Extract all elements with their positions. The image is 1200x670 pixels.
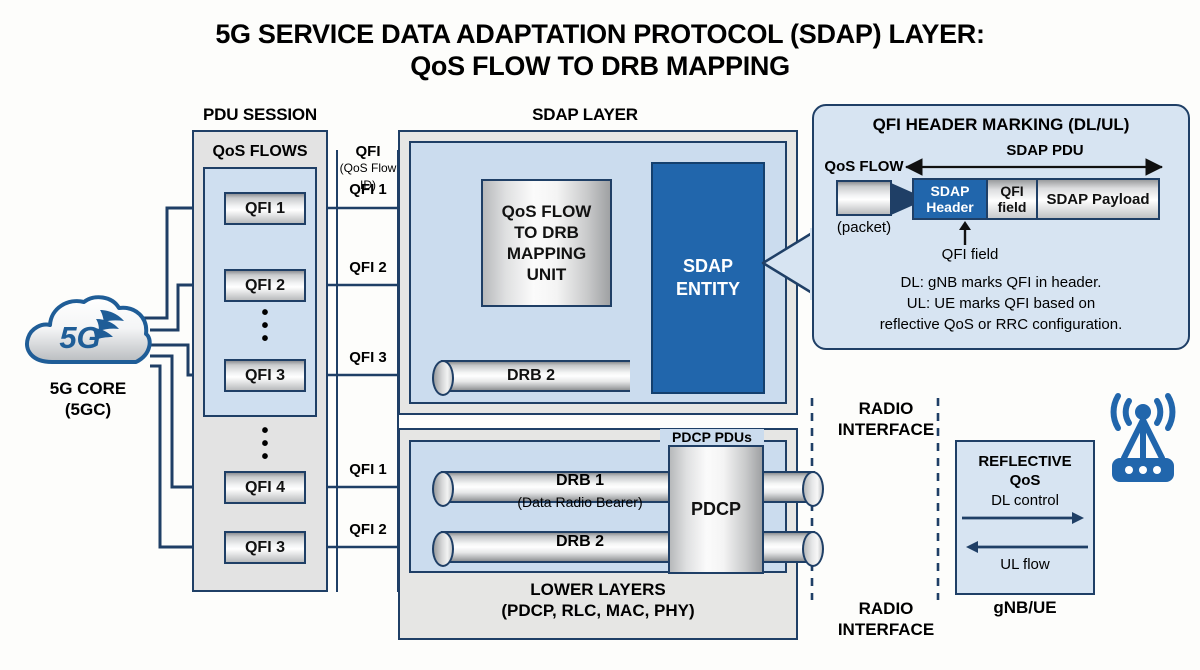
radio-interface-top-label: RADIO INTERFACE (828, 398, 944, 440)
sdap-pdu-structure: SDAP Header QFI field SDAP Payload (912, 178, 1160, 220)
packet-caption: (packet) (820, 219, 908, 236)
reflective-qos-title: REFLECTIVE QoS (955, 452, 1095, 490)
gnb-ue-label: gNB/UE (955, 598, 1095, 618)
qfi-heading-text: QFI (337, 143, 399, 160)
5g-core-cloud-icon: 5G (18, 288, 158, 378)
qos-flows-ellipsis: • • • (224, 307, 306, 346)
mapping-unit-line-2: TO DRB (502, 222, 592, 243)
sdap-pdu-span-arrow (900, 160, 1168, 174)
qos-flow-qfi-1[interactable]: QFI 1 (224, 192, 306, 225)
note-line-2: UL: UE marks QFI based on (818, 293, 1184, 314)
lower-layers-caption: LOWER LAYERS (PDCP, RLC, MAC, PHY) (398, 579, 798, 621)
cloud-badge-text: 5G (59, 320, 100, 355)
mapping-unit-line-3: MAPPING (502, 243, 592, 264)
drb1-cap-right (802, 471, 824, 507)
qfi-header-marking-notes: DL: gNB marks QFI in header. UL: UE mark… (818, 272, 1184, 335)
mapping-unit-line-4: UNIT (502, 264, 592, 285)
drb2-cap-right (802, 531, 824, 567)
radio-top-line-2: INTERFACE (828, 419, 944, 440)
note-line-1: DL: gNB marks QFI in header. (818, 272, 1184, 293)
sdap-drb2-label: DRB 2 (432, 360, 630, 392)
qos-flow-qfi-2[interactable]: QFI 2 (224, 269, 306, 302)
pdu-session-ellipsis: • • • (224, 425, 306, 464)
5g-core-label-line2: (5GC) (8, 399, 168, 420)
lower-layers-title-2: (PDCP, RLC, MAC, PHY) (398, 600, 798, 621)
radio-bottom-line-2: INTERFACE (828, 619, 944, 640)
ul-flow-arrow (962, 540, 1088, 554)
diagram-canvas: 5G SERVICE DATA ADAPTATION PROTOCOL (SDA… (0, 0, 1200, 670)
qfi-field-block[interactable]: QFI field (988, 180, 1038, 218)
qfi-field-line-2: field (998, 199, 1027, 215)
qfi-label-row-5: QFI 2 (337, 521, 399, 538)
note-line-3: reflective QoS or RRC configuration. (818, 314, 1184, 335)
dl-control-arrow (962, 511, 1088, 525)
pdcp-block[interactable]: PDCP (668, 445, 764, 574)
qfi-field-caption: QFI field (890, 246, 1050, 263)
mapping-unit-line-1: QoS FLOW (502, 201, 592, 222)
antenna-icon (1098, 390, 1188, 495)
qfi-label-row-4: QFI 1 (337, 461, 399, 478)
qos-flow-packet[interactable] (836, 180, 892, 216)
sdap-header-line-2: Header (926, 199, 973, 215)
ellipsis2-dot-3: • (224, 451, 306, 464)
qos-flow-qfi-4[interactable]: QFI 4 (224, 471, 306, 504)
sdap-entity-line-1: SDAP (676, 255, 740, 278)
radio-interface-bottom-label: RADIO INTERFACE (828, 598, 944, 640)
sdap-entity-line-2: ENTITY (676, 278, 740, 301)
sdap-payload-label: SDAP Payload (1046, 191, 1149, 208)
sdap-payload-field[interactable]: SDAP Payload (1038, 180, 1158, 218)
lower-layers-title-1: LOWER LAYERS (398, 579, 798, 600)
qfi-label-row-1: QFI 1 (337, 181, 399, 198)
5g-core-label-line1: 5G CORE (8, 378, 168, 399)
sdap-header-field[interactable]: SDAP Header (914, 180, 988, 218)
qos-flow-qfi-3-lower[interactable]: QFI 3 (224, 531, 306, 564)
qfi-label-row-3: QFI 3 (337, 349, 399, 366)
qos-flow-qfi-3[interactable]: QFI 3 (224, 359, 306, 392)
ul-flow-label: UL flow (955, 556, 1095, 573)
sdap-header-line-1: SDAP (926, 183, 973, 199)
qfi-label-row-2: QFI 2 (337, 259, 399, 276)
qos-flows-label: QoS FLOWS (192, 143, 328, 161)
radio-top-line-1: RADIO (828, 398, 944, 419)
qfi-field-line-1: QFI (998, 183, 1027, 199)
pdcp-pdus-label: PDCP PDUs (660, 429, 764, 445)
sdap-entity[interactable]: SDAP ENTITY (651, 162, 765, 394)
ellipsis-dot-3: • (224, 333, 306, 346)
qos-flow-packet-label: QoS FLOW (820, 158, 908, 175)
sdap-pdu-label: SDAP PDU (900, 142, 1190, 159)
dl-control-label: DL control (955, 492, 1095, 509)
5g-core-label: 5G CORE (5GC) (8, 378, 168, 420)
radio-bottom-line-1: RADIO (828, 598, 944, 619)
qos-flow-to-drb-mapping-unit[interactable]: QoS FLOW TO DRB MAPPING UNIT (481, 179, 612, 307)
qfi-field-pointer-arrow (955, 221, 975, 245)
reflective-title-line-1: REFLECTIVE (955, 452, 1095, 471)
reflective-title-line-2: QoS (955, 471, 1095, 490)
sdap-drb-2-bearer[interactable]: DRB 2 (432, 360, 630, 392)
qfi-header-marking-heading: QFI HEADER MARKING (DL/UL) (812, 115, 1190, 135)
